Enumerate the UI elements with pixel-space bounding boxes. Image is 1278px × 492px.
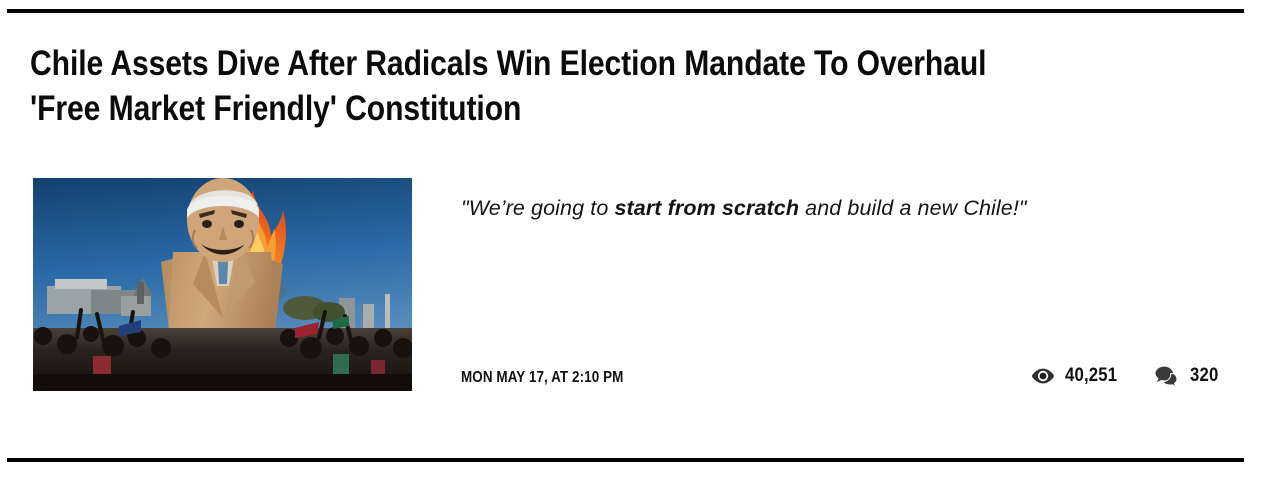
page-title[interactable]: Chile Assets Dive After Radicals Win Ele… [30, 41, 1045, 131]
view-count-value: 40,251 [1065, 365, 1117, 387]
quote-suffix: and build a new Chile!" [799, 196, 1027, 220]
article-body: "We’re going to start from scratch and b… [0, 178, 1278, 393]
article-timestamp: MON MAY 17, AT 2:10 PM [461, 368, 623, 388]
quote-emphasis: start from scratch [614, 196, 799, 220]
comment-count-value: 320 [1190, 365, 1218, 387]
comments-icon [1155, 365, 1181, 387]
eye-icon [1030, 365, 1056, 387]
comment-count[interactable]: 320 [1155, 365, 1222, 387]
bottom-divider [7, 458, 1244, 462]
quote-prefix: "We’re going to [461, 196, 614, 220]
view-count[interactable]: 40,251 [1030, 365, 1124, 387]
article-card: Chile Assets Dive After Radicals Win Ele… [0, 0, 1278, 492]
article-meta: MON MAY 17, AT 2:10 PM 40,251 [461, 368, 1222, 392]
article-thumbnail[interactable] [33, 178, 412, 391]
article-stats: 40,251 320 [1030, 365, 1222, 387]
top-divider [7, 9, 1244, 13]
article-quote: "We’re going to start from scratch and b… [461, 193, 1221, 223]
